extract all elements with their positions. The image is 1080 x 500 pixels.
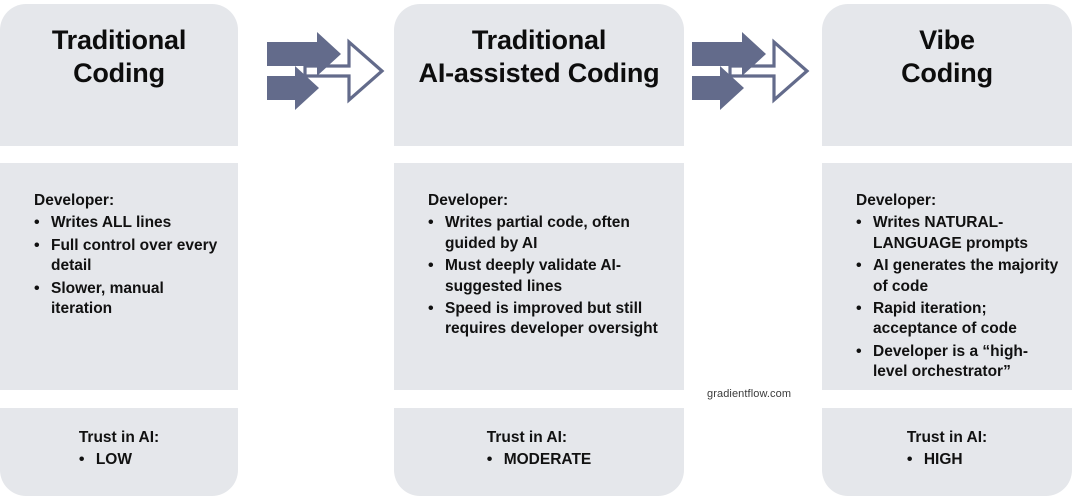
column-2-trust-wrap: Trust in AI: MODERATE [394, 428, 684, 471]
column-1-trust-box: Trust in AI: LOW [0, 408, 238, 496]
column-2-bullet-list: Writes partial code, often guided by AI … [428, 213, 674, 340]
column-1-bullet-list: Writes ALL lines Full control over every… [34, 213, 228, 319]
status-badge: HIGH [907, 450, 987, 470]
double-arrow-glyph [690, 30, 812, 112]
column-2-trust-label: Trust in AI: [487, 428, 592, 448]
status-badge: LOW [79, 450, 159, 470]
column-2-title-box: Traditional AI-assisted Coding [394, 4, 684, 146]
list-item: Writes partial code, often guided by AI [428, 213, 674, 254]
column-3-title: Vibe Coding [901, 24, 993, 90]
column-1-trust-wrap: Trust in AI: LOW [0, 428, 238, 471]
column-1-trust-label: Trust in AI: [79, 428, 159, 448]
column-2-body-box: Developer: Writes partial code, often gu… [394, 163, 684, 390]
list-item: Full control over every detail [34, 236, 228, 277]
double-arrow-icon [265, 30, 387, 112]
list-item: Rapid iteration; acceptance of code [856, 299, 1062, 340]
list-item: Speed is improved but still requires dev… [428, 299, 674, 340]
list-item: Writes NATURAL-LANGUAGE prompts [856, 213, 1062, 254]
diagram-canvas: Traditional Coding Developer: Writes ALL… [0, 0, 1080, 500]
column-3-trust-label: Trust in AI: [907, 428, 987, 448]
list-item: Must deeply validate AI-suggested lines [428, 256, 674, 297]
column-3-trust-box: Trust in AI: HIGH [822, 408, 1072, 496]
column-3-body-box: Developer: Writes NATURAL-LANGUAGE promp… [822, 163, 1072, 390]
list-item: Slower, manual iteration [34, 279, 228, 320]
list-item: Developer is a “high-level orchestrator” [856, 342, 1062, 383]
column-2-trust-inner: Trust in AI: MODERATE [487, 428, 592, 471]
list-item: Writes ALL lines [34, 213, 228, 233]
column-1-body-lead: Developer: [34, 191, 228, 211]
column-3-title-box: Vibe Coding [822, 4, 1072, 146]
column-1-trust-inner: Trust in AI: LOW [79, 428, 159, 471]
column-3-bullet-list: Writes NATURAL-LANGUAGE prompts AI gener… [856, 213, 1062, 383]
column-1-body-box: Developer: Writes ALL lines Full control… [0, 163, 238, 390]
column-3-trust-inner: Trust in AI: HIGH [907, 428, 987, 471]
column-2-title: Traditional AI-assisted Coding [419, 24, 660, 90]
status-badge: MODERATE [487, 450, 592, 470]
watermark-label: gradientflow.com [707, 388, 791, 400]
double-arrow-glyph [265, 30, 387, 112]
column-2-body-lead: Developer: [428, 191, 674, 211]
column-1-title-box: Traditional Coding [0, 4, 238, 146]
column-3-body-lead: Developer: [856, 191, 1062, 211]
column-1-title: Traditional Coding [52, 24, 186, 90]
list-item: AI generates the majority of code [856, 256, 1062, 297]
double-arrow-icon [690, 30, 812, 112]
column-3-trust-wrap: Trust in AI: HIGH [822, 428, 1072, 471]
column-2-trust-box: Trust in AI: MODERATE [394, 408, 684, 496]
